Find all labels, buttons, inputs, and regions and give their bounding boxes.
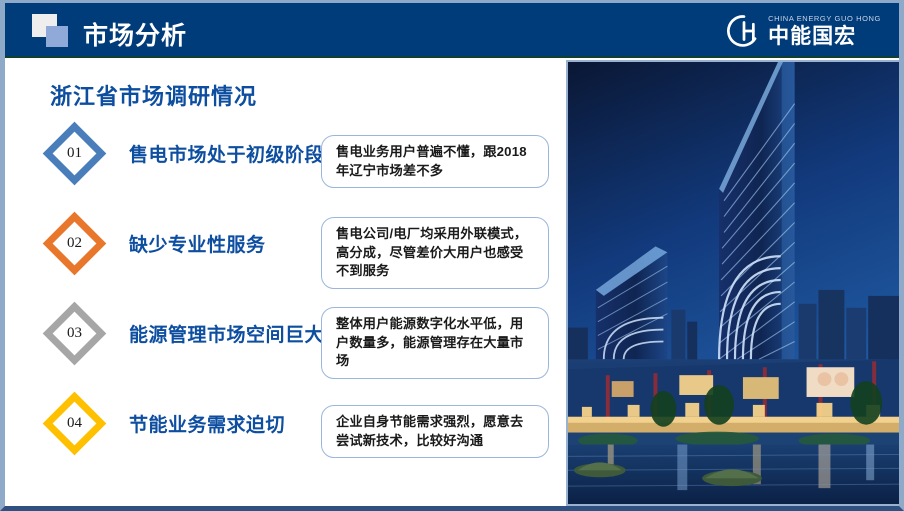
- item-title-04: 节能业务需求迫切: [129, 410, 285, 437]
- item-title-01: 售电市场处于初级阶段: [129, 140, 324, 167]
- list-item: 03 能源管理市场空间巨大 整体用户能源数字化水平低，用户数量多，能源管理存在大…: [5, 303, 565, 393]
- photo-illustration: [568, 62, 899, 504]
- slide-canvas: 市场分析 CHINA ENERGY GUO HONG 中能国宏 浙江省市场调研情…: [0, 0, 904, 511]
- brand-english-name: CHINA ENERGY GUO HONG: [768, 15, 881, 23]
- item-callout-02: 售电公司/电厂均采用外联模式，高分成，尽管差价大用户也感受不到服务: [321, 217, 549, 289]
- item-number-01: 01: [52, 131, 97, 176]
- brand-text: CHINA ENERGY GUO HONG 中能国宏: [768, 15, 881, 47]
- section-heading: 浙江省市场调研情况: [50, 79, 257, 111]
- market-analysis-item-list: 01 售电市场处于初级阶段 售电业务用户普遍不懂，跟2018年辽宁市场差不多 0…: [5, 123, 565, 483]
- item-number-02: 02: [52, 221, 97, 266]
- item-number-04: 04: [52, 401, 97, 446]
- item-callout-04: 企业自身节能需求强烈，愿意去尝试新技术，比较好沟通: [321, 405, 549, 458]
- item-callout-03: 整体用户能源数字化水平低，用户数量多，能源管理存在大量市场: [321, 307, 549, 379]
- two-squares-icon: [32, 14, 72, 48]
- square-blue: [46, 26, 68, 47]
- item-title-02: 缺少专业性服务: [129, 230, 266, 257]
- list-item: 02 缺少专业性服务 售电公司/电厂均采用外联模式，高分成，尽管差价大用户也感受…: [5, 213, 565, 303]
- item-number-03: 03: [52, 311, 97, 356]
- slide-header: 市场分析 CHINA ENERGY GUO HONG 中能国宏: [5, 3, 899, 58]
- item-title-03: 能源管理市场空间巨大: [129, 320, 324, 347]
- page-title: 市场分析: [83, 16, 187, 52]
- item-callout-01: 售电业务用户普遍不懂，跟2018年辽宁市场差不多: [321, 135, 549, 188]
- blue-glass-skyscraper-commercial-plaza-photo: [566, 60, 899, 506]
- china-energy-guohong-circle-mark: [727, 14, 761, 48]
- list-item: 04 节能业务需求迫切 企业自身节能需求强烈，愿意去尝试新技术，比较好沟通: [5, 393, 565, 483]
- list-item: 01 售电市场处于初级阶段 售电业务用户普遍不懂，跟2018年辽宁市场差不多: [5, 123, 565, 213]
- brand-chinese-name: 中能国宏: [768, 26, 881, 47]
- brand-logo: CHINA ENERGY GUO HONG 中能国宏: [727, 11, 881, 51]
